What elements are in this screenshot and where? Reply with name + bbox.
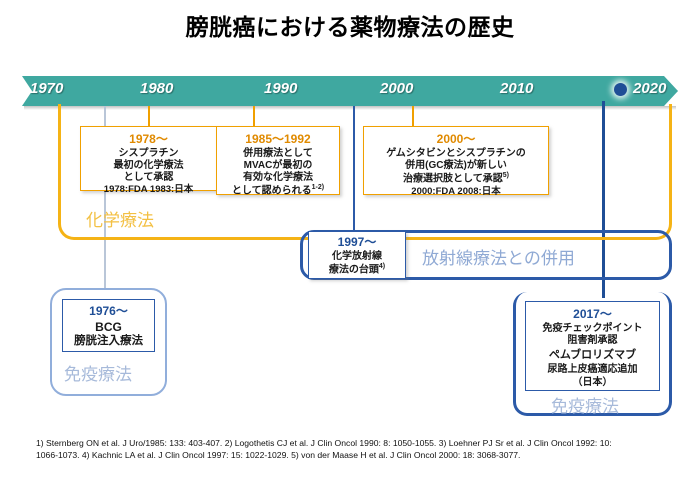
event-line: 1978:FDA 1983:日本 <box>81 184 216 196</box>
event-line: 併用(GC療法)が新しい <box>364 160 548 172</box>
event-line: シスプラチン <box>81 148 216 160</box>
event-line: 有効な化学療法 <box>217 172 339 184</box>
timeline-marker-dot <box>614 83 627 96</box>
event-line: 2000:FDA 2008:日本 <box>364 186 548 198</box>
event-year-cisplatin: 1978～ <box>81 132 216 147</box>
event-reference-gemcitabine: 5) <box>503 172 509 179</box>
event-line-text: として認められる <box>232 186 312 197</box>
event-year-chemoradiation: 1997～ <box>309 235 405 250</box>
timeline: 1970 1980 1990 2000 2010 2020 <box>22 76 678 106</box>
event-line: 免疫チェックポイント <box>526 323 659 335</box>
event-line: として認められる1-2) <box>217 184 339 198</box>
timeline-year-2020: 2020 <box>633 80 666 97</box>
event-line: 併用療法として <box>217 148 339 160</box>
event-line: 治療選択肢として承認5) <box>364 172 548 186</box>
timeline-bar <box>22 76 678 106</box>
event-box-bcg: 1976～ BCG 膀胱注入療法 <box>62 299 155 352</box>
timeline-year-1970: 1970 <box>30 80 63 97</box>
event-line-text: 療法の台頭 <box>329 264 379 275</box>
event-line: として承認 <box>81 172 216 184</box>
event-line: 膀胱注入療法 <box>63 334 154 348</box>
event-line: 阻害剤承認 <box>526 335 659 347</box>
footnotes: 1) Sternberg ON et al. J Uro/1985: 133: … <box>36 437 684 462</box>
timeline-year-2000: 2000 <box>380 80 413 97</box>
timeline-year-1990: 1990 <box>264 80 297 97</box>
event-line: 療法の台頭4) <box>309 263 405 277</box>
event-line: 尿路上皮癌適応追加 <box>526 364 659 376</box>
event-box-pembrolizumab: 2017～ 免疫チェックポイント 阻害剤承認 ペムブロリズマブ 尿路上皮癌適応追… <box>525 301 660 391</box>
event-line: 化学放射線 <box>309 251 405 263</box>
event-line: ゲムシタビンとシスプラチンの <box>364 148 548 160</box>
category-label-immunotherapy-left: 免疫療法 <box>64 360 132 385</box>
infographic-canvas: 膀胱癌における薬物療法の歴史 1970 1980 1990 2000 2010 … <box>0 0 700 482</box>
event-reference-chemoradiation: 4) <box>379 263 385 270</box>
event-box-mvac: 1985～1992 併用療法として MVACが最初の 有効な化学療法 として認め… <box>216 126 340 195</box>
event-year-gemcitabine: 2000～ <box>364 132 548 147</box>
event-line: MVACが最初の <box>217 160 339 172</box>
category-label-radiotherapy: 放射線療法との併用 <box>422 244 575 269</box>
timeline-year-1980: 1980 <box>140 80 173 97</box>
event-year-mvac: 1985～1992 <box>217 132 339 147</box>
event-box-chemoradiation: 1997～ 化学放射線 療法の台頭4) <box>308 231 406 279</box>
timeline-year-2010: 2010 <box>500 80 533 97</box>
event-line: 最初の化学療法 <box>81 160 216 172</box>
event-line: ペムブロリズマブ <box>526 349 659 362</box>
event-reference-mvac: 1-2) <box>312 184 324 191</box>
footnote-line-1: 1) Sternberg ON et al. J Uro/1985: 133: … <box>36 437 684 449</box>
event-year-pembrolizumab: 2017～ <box>526 307 659 322</box>
page-title: 膀胱癌における薬物療法の歴史 <box>0 8 700 42</box>
event-line: （日本） <box>526 377 659 389</box>
event-box-gemcitabine: 2000～ ゲムシタビンとシスプラチンの 併用(GC療法)が新しい 治療選択肢と… <box>363 126 549 195</box>
event-line-text: 治療選択肢として承認 <box>403 173 503 184</box>
event-line: BCG <box>63 320 154 335</box>
category-label-immunotherapy-right: 免疫療法 <box>551 392 619 417</box>
event-box-cisplatin: 1978～ シスプラチン 最初の化学療法 として承認 1978:FDA 1983… <box>80 126 217 191</box>
footnote-line-2: 1066-1073. 4) Kachnic LA et al. J Clin O… <box>36 449 684 461</box>
category-label-chemotherapy: 化学療法 <box>86 206 154 231</box>
event-year-bcg: 1976～ <box>63 304 154 319</box>
